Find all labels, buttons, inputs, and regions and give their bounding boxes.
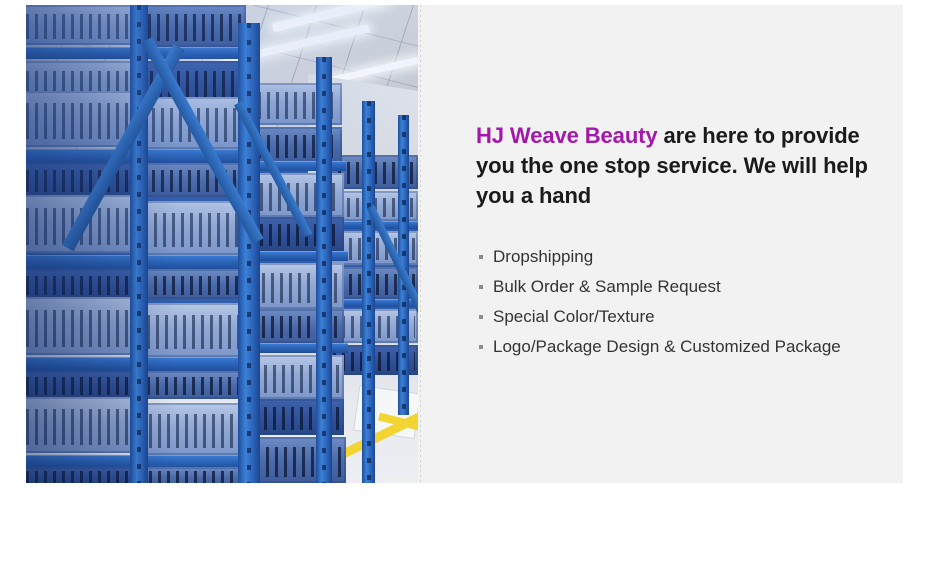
vertical-divider: [420, 5, 421, 483]
rack-post: [130, 5, 148, 483]
warehouse-photo: [26, 5, 418, 483]
service-banner: HJ Weave Beauty are here to provide you …: [26, 5, 903, 483]
rack-post: [362, 101, 375, 483]
list-item: Bulk Order & Sample Request: [479, 272, 841, 302]
crate: [26, 5, 136, 45]
bullet-square-icon: [479, 345, 483, 349]
bullet-square-icon: [479, 315, 483, 319]
page-title: HJ Weave Beauty are here to provide you …: [476, 121, 896, 211]
bullet-square-icon: [479, 255, 483, 259]
bullet-square-icon: [479, 285, 483, 289]
crate: [26, 163, 140, 197]
list-item: Logo/Package Design & Customized Package: [479, 332, 841, 362]
crate: [26, 297, 144, 355]
text-panel: HJ Weave Beauty are here to provide you …: [418, 5, 903, 483]
service-label: Logo/Package Design & Customized Package: [493, 337, 841, 356]
crate: [26, 467, 146, 483]
service-label: Special Color/Texture: [493, 307, 655, 326]
brand-name: HJ Weave Beauty: [476, 123, 658, 148]
crate: [26, 371, 144, 399]
service-list: Dropshipping Bulk Order & Sample Request…: [479, 242, 841, 362]
crate: [26, 397, 146, 453]
crate: [254, 437, 346, 483]
list-item: Special Color/Texture: [479, 302, 841, 332]
rack-post: [238, 23, 260, 483]
list-item: Dropshipping: [479, 242, 841, 272]
crate: [26, 269, 142, 299]
service-label: Bulk Order & Sample Request: [493, 277, 721, 296]
rack-post: [316, 57, 332, 483]
service-label: Dropshipping: [493, 247, 593, 266]
